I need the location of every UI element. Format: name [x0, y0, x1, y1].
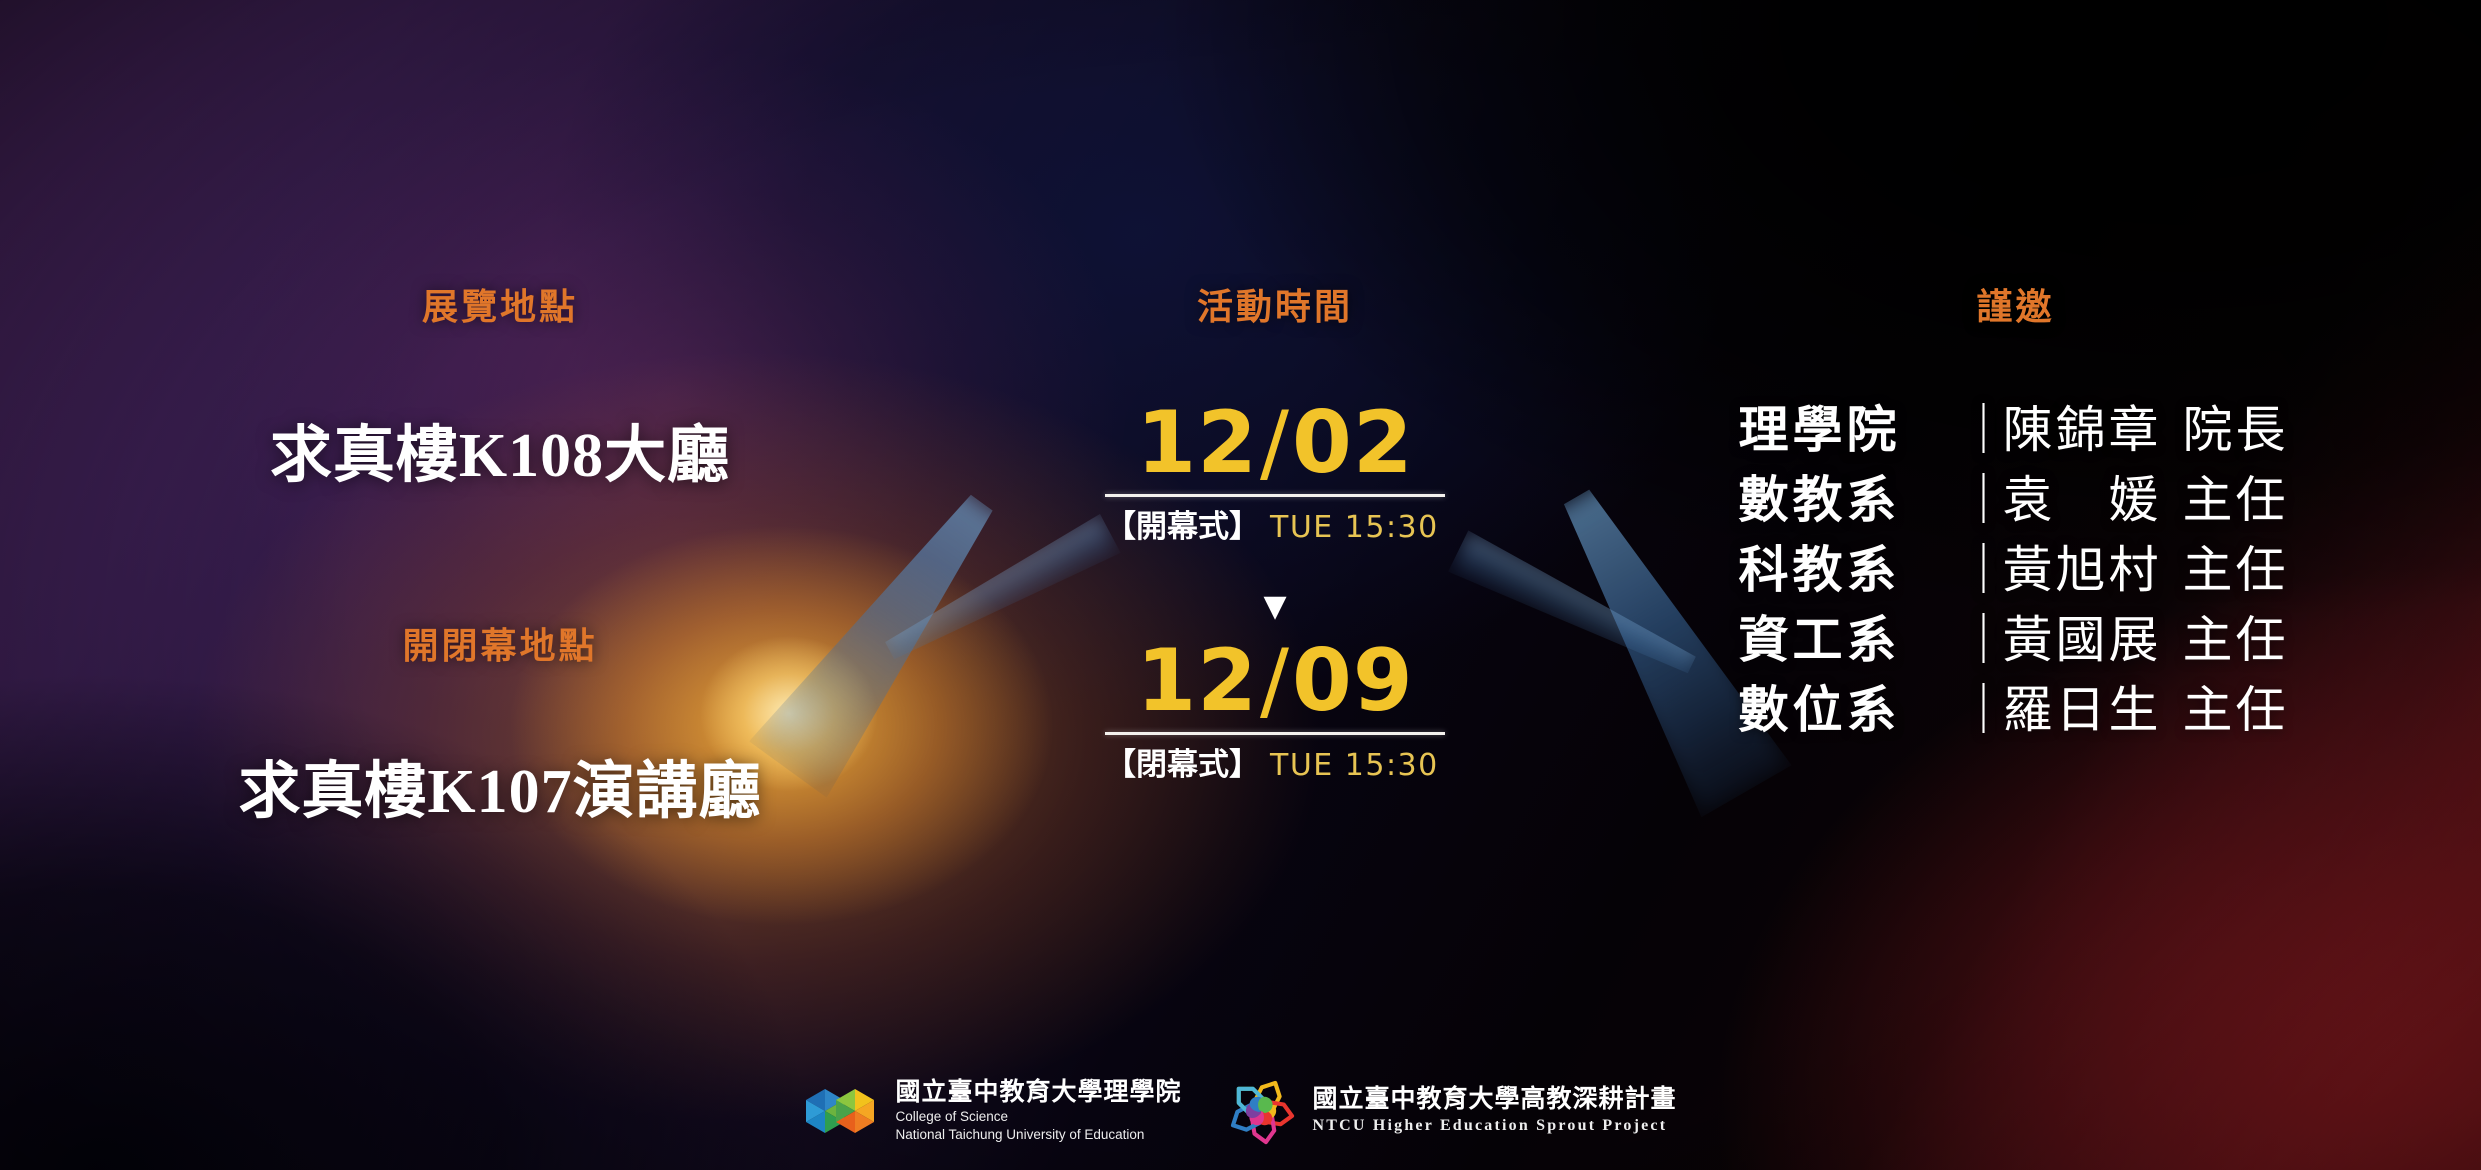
- date-underline: [1105, 732, 1445, 735]
- exhibition-venue-name: 求真樓K108大廳: [0, 404, 1000, 494]
- guest-name: 黃旭村: [2003, 545, 2183, 595]
- opening-date: 12/02: [1105, 400, 1445, 486]
- guest-name: 黃國展: [2003, 615, 2183, 665]
- guest-row: 數教系 ｜ 袁 媛 主任: [1550, 465, 2481, 535]
- opening-ceremony-label: 【開幕式】: [1105, 501, 1260, 546]
- ceremony-venue-name: 求真樓K107演講廳: [0, 740, 1000, 830]
- date-range-arrow-icon: ▼: [1263, 592, 1286, 622]
- guest-list: 理學院 ｜ 陳錦章 院長 數教系 ｜ 袁 媛 主任 科教系 ｜ 黃旭村 主任: [1550, 395, 2481, 745]
- guest-title: 主任: [2183, 615, 2293, 665]
- guest-department: 理學院: [1739, 405, 1959, 455]
- guest-divider: ｜: [1959, 685, 2003, 735]
- guests-column: 謹邀 理學院 ｜ 陳錦章 院長 數教系 ｜ 袁 媛 主任 科教系 ｜ 黃旭: [1550, 0, 2481, 1170]
- guest-title: 院長: [2183, 405, 2293, 455]
- venue-column: 展覽地點 求真樓K108大廳 開閉幕地點 求真樓K107演講廳: [0, 0, 1000, 1170]
- closing-subline: 【閉幕式】 TUE 15:30: [1105, 739, 1445, 784]
- guest-department: 資工系: [1739, 615, 1959, 665]
- guest-department: 科教系: [1739, 545, 1959, 595]
- schedule-column: 活動時間 12/02 【開幕式】 TUE 15:30 ▼ 12/09 【閉幕式】…: [1000, 0, 1550, 1170]
- guest-row: 資工系 ｜ 黃國展 主任: [1550, 605, 2481, 675]
- guest-row: 科教系 ｜ 黃旭村 主任: [1550, 535, 2481, 605]
- guest-row: 理學院 ｜ 陳錦章 院長: [1550, 395, 2481, 465]
- closing-ceremony-label: 【閉幕式】: [1105, 739, 1260, 784]
- closing-month: 12: [1136, 631, 1258, 731]
- guest-row: 數位系 ｜ 羅日生 主任: [1550, 675, 2481, 745]
- guests-heading: 謹邀: [1550, 278, 2481, 330]
- guest-name: 陳錦章: [2003, 405, 2183, 455]
- logo-title-zh: 國立臺中教育大學理學院: [895, 1078, 1181, 1108]
- poster-content: 展覽地點 求真樓K108大廳 開閉幕地點 求真樓K107演講廳 活動時間 12/…: [0, 0, 2481, 1170]
- guest-name: 羅日生: [2003, 685, 2183, 735]
- exhibition-venue-heading: 展覽地點: [0, 278, 1000, 330]
- guest-title: 主任: [2183, 475, 2293, 525]
- guest-divider: ｜: [1959, 405, 2003, 455]
- logo-subtitle-en-line2: National Taichung University of Educatio…: [895, 1126, 1181, 1144]
- opening-month: 12: [1136, 393, 1258, 493]
- hexagon-pinwheel-icon: [804, 1075, 882, 1147]
- closing-weekday-time: TUE 15:30: [1270, 748, 1439, 783]
- logo-title-zh: 國立臺中教育大學高教深耕計畫: [1313, 1085, 1677, 1115]
- guest-divider: ｜: [1959, 615, 2003, 665]
- closing-date: 12/09: [1105, 638, 1445, 724]
- opening-subline: 【開幕式】 TUE 15:30: [1105, 501, 1445, 546]
- sprout-flower-icon: [1222, 1074, 1300, 1148]
- date-separator: /: [1258, 393, 1292, 493]
- guest-divider: ｜: [1959, 475, 2003, 525]
- sprout-project-wordmark: 國立臺中教育大學高教深耕計畫 NTCU Higher Education Spr…: [1313, 1085, 1677, 1136]
- opening-day: 02: [1292, 393, 1414, 493]
- schedule-heading: 活動時間: [1000, 278, 1550, 330]
- date-separator: /: [1258, 631, 1292, 731]
- sprout-project-logo: 國立臺中教育大學高教深耕計畫 NTCU Higher Education Spr…: [1222, 1074, 1677, 1148]
- guest-department: 數教系: [1739, 475, 1959, 525]
- guest-title: 主任: [2183, 545, 2293, 595]
- logo-subtitle-en-line1: NTCU Higher Education Sprout Project: [1313, 1115, 1677, 1137]
- guest-divider: ｜: [1959, 545, 2003, 595]
- college-of-science-logo: 國立臺中教育大學理學院 College of Science National …: [804, 1075, 1181, 1147]
- closing-date-block: 12/09 【閉幕式】 TUE 15:30: [1105, 638, 1445, 784]
- college-of-science-wordmark: 國立臺中教育大學理學院 College of Science National …: [895, 1078, 1181, 1144]
- date-underline: [1105, 494, 1445, 497]
- logo-subtitle-en-line1: College of Science: [895, 1108, 1181, 1126]
- guest-department: 數位系: [1739, 685, 1959, 735]
- ceremony-venue-heading: 開閉幕地點: [0, 617, 1000, 669]
- closing-day: 09: [1292, 631, 1414, 731]
- poster-canvas: 展覽地點 求真樓K108大廳 開閉幕地點 求真樓K107演講廳 活動時間 12/…: [0, 0, 2481, 1170]
- guest-title: 主任: [2183, 685, 2293, 735]
- guest-name: 袁 媛: [2003, 475, 2183, 525]
- opening-weekday-time: TUE 15:30: [1270, 510, 1439, 545]
- footer-logos: 國立臺中教育大學理學院 College of Science National …: [0, 1074, 2481, 1148]
- opening-date-block: 12/02 【開幕式】 TUE 15:30: [1105, 400, 1445, 546]
